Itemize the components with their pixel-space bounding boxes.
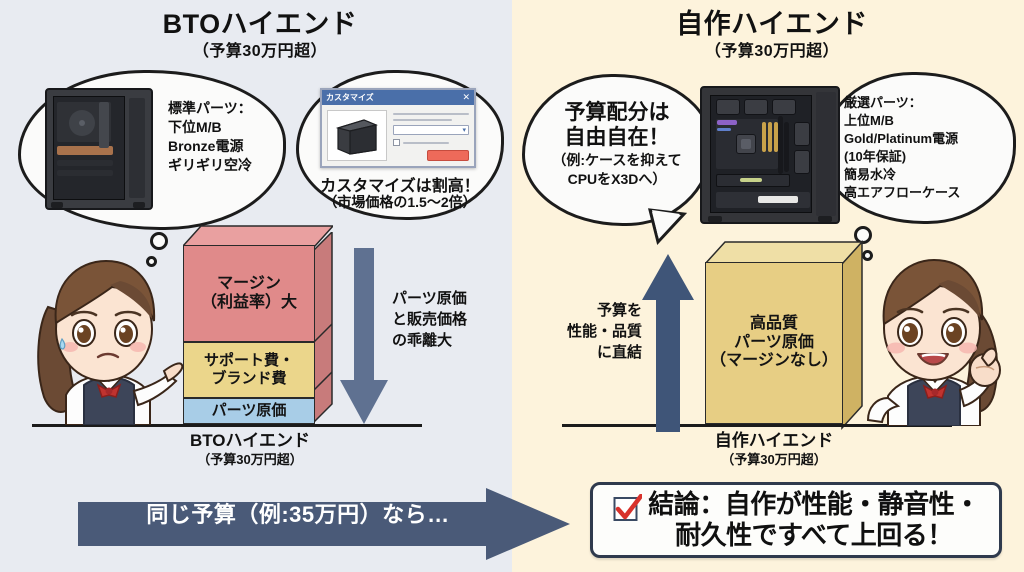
customize-expensive-line2: （市場価格の1.5〜2倍） (300, 192, 500, 212)
bto-pc-case-illustration (45, 88, 153, 210)
bto-segment-parts-cost: パーツ原価 (183, 398, 315, 424)
bto-segment-support-brand-label: サポート費・ ブランド費 (204, 352, 294, 387)
right-panel-subtitle: （予算30万円超） (572, 41, 972, 63)
checkbox-icon[interactable] (393, 139, 400, 146)
left-panel-title-block: BTOハイエンド （予算30万円超） (60, 8, 460, 63)
budget-freedom-line2: 自由自在！ (524, 121, 710, 151)
diy-segment-quality-parts: 高品質 パーツ原価 （マージンなし） (705, 262, 843, 424)
dialog-product-preview (327, 110, 387, 161)
diy-segment-quality-parts-label: 高品質 パーツ原価 （マージンなし） (710, 315, 838, 372)
dialog-titlebar: カスタマイズ ✕ (322, 90, 474, 105)
close-icon[interactable]: ✕ (462, 93, 470, 102)
bto-segment-support-brand: サポート費・ ブランド費 (183, 342, 315, 398)
bto-segment-margin: マージン （利益率）大 (183, 245, 315, 342)
speech-bubble-tail (648, 208, 688, 248)
dialog-form-fields: ▾ (393, 110, 469, 161)
right-chart-axis-label: 自作ハイエンド （予算30万円超） (644, 430, 904, 469)
conclusion-text: 結論：自作が性能・静音性・ 耐久性ですべて上回る！ (648, 489, 980, 551)
selected-parts-text: 厳選パーツ： 上位M/B Gold/Platinum電源 (10年保証) 簡易水… (844, 94, 1016, 202)
bto-segment-margin-label: マージン （利益率）大 (201, 275, 297, 313)
down-arrow-icon (338, 248, 390, 428)
left-standard-parts-text: 標準パーツ： 下位M/B Bronze電源 ギリギリ空冷 (168, 99, 288, 175)
happy-girl-avatar (852, 248, 1018, 426)
same-budget-banner-text: 同じ予算（例:35万円）なら… (118, 500, 478, 530)
infographic-root: BTOハイエンド （予算30万円超） 自作ハイエンド （予算30万円超） 標準パ… (0, 0, 1024, 572)
dialog-select-dropdown[interactable]: ▾ (393, 125, 469, 135)
worried-girl-avatar (18, 245, 183, 425)
left-panel-title: BTOハイエンド (60, 8, 460, 40)
form-placeholder-line (393, 113, 469, 115)
right-panel-title-block: 自作ハイエンド （予算30万円超） (572, 8, 972, 63)
dialog-checkbox-row[interactable] (393, 139, 469, 146)
dialog-body: ▾ (322, 105, 474, 166)
right-panel-title: 自作ハイエンド (572, 8, 972, 40)
left-arrow-note: パーツ原価 と販売価格 の乖離大 (392, 288, 512, 351)
form-placeholder-line (393, 119, 452, 121)
customize-dialog-window[interactable]: カスタマイズ ✕ ▾ (320, 88, 476, 168)
bto-segment-parts-cost-label: パーツ原価 (212, 402, 287, 420)
left-axis-label-sub: （予算30万円超） (120, 451, 380, 469)
pc-tower-icon (334, 116, 380, 156)
form-placeholder-line (403, 142, 449, 144)
left-chart-axis-label: BTOハイエンド （予算30万円超） (120, 430, 380, 469)
left-axis-label-main: BTOハイエンド (120, 430, 380, 451)
dialog-title-text: カスタマイズ (326, 92, 374, 103)
chevron-down-icon: ▾ (462, 127, 466, 134)
dialog-primary-button[interactable] (427, 150, 469, 161)
up-arrow-icon (640, 252, 696, 434)
conclusion-box: 結論：自作が性能・静音性・ 耐久性ですべて上回る！ (590, 482, 1002, 558)
budget-freedom-line3: （例:ケースを抑えて (524, 150, 710, 170)
checkbox-checked-icon (612, 494, 642, 524)
right-arrow-note: 予算を 性能・品質 に直結 (546, 300, 642, 363)
budget-freedom-line4: CPUをX3Dへ） (524, 169, 710, 189)
diy-pc-case-illustration (700, 86, 840, 224)
bto-bar-side-face (313, 232, 337, 432)
left-panel-subtitle: （予算30万円超） (60, 41, 460, 63)
right-axis-label-sub: （予算30万円超） (644, 451, 904, 469)
